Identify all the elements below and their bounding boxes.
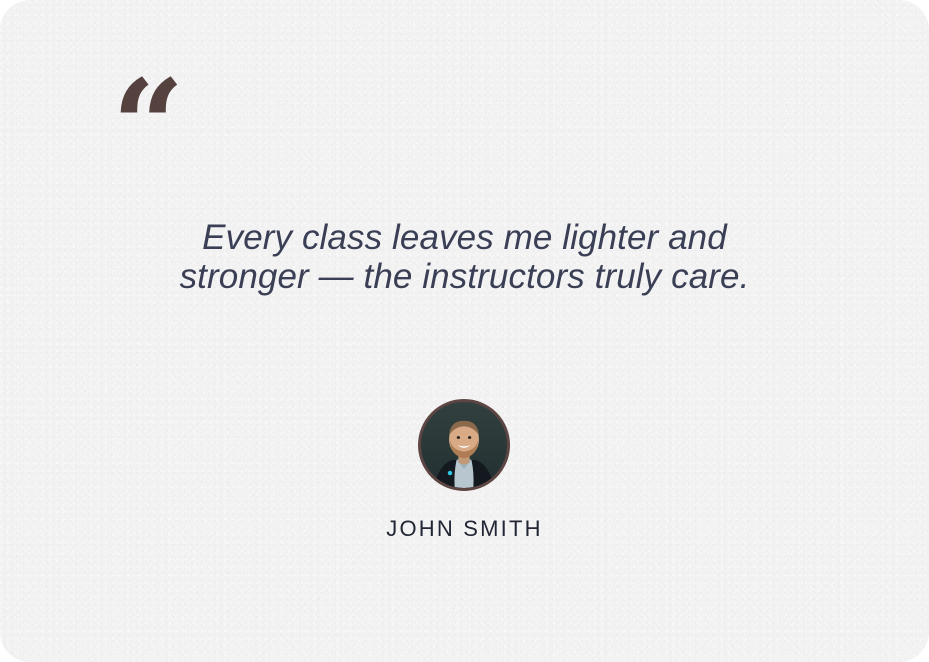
testimonial-card: “ Every class leaves me lighter and stro… — [0, 0, 929, 662]
avatar-photo — [421, 402, 507, 488]
avatar — [418, 399, 510, 491]
testimonial-author-name: JOHN SMITH — [0, 516, 929, 542]
testimonial-quote-text: Every class leaves me lighter and strong… — [0, 218, 929, 296]
quotation-mark-icon: “ — [112, 63, 184, 189]
